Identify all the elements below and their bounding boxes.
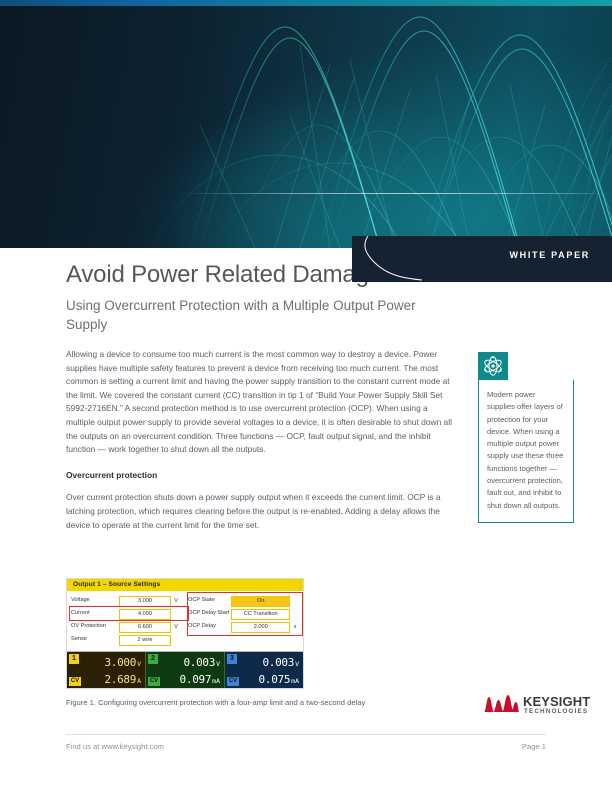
- channel-mode-badge: CV: [148, 677, 160, 686]
- unit-voltage: V: [171, 598, 181, 604]
- field-ov-protection[interactable]: 6.600: [119, 622, 171, 633]
- footer-url[interactable]: Find us at www.keysight.com: [66, 742, 164, 751]
- channel-mode-badge: CV: [69, 677, 81, 686]
- document-page: WHITE PAPER Avoid Power Related Damage U…: [0, 0, 612, 792]
- settings-cell-current: Current 4.000: [71, 609, 188, 620]
- label-ocp-delay-start: OCP Delay Start: [188, 611, 231, 617]
- output-readout-strip: 1 CV 3.000V 2.689A 2 CV 0.003V: [67, 651, 303, 688]
- current-unit: A: [137, 677, 141, 685]
- banner-top-accent-bar: [0, 0, 612, 6]
- voltage-unit: V: [295, 660, 299, 668]
- voltage-value: 3.000: [104, 656, 136, 669]
- field-ocp-state[interactable]: On: [231, 596, 290, 607]
- label-sense: Sense: [71, 637, 119, 643]
- voltage-value: 0.003: [262, 656, 294, 669]
- keysight-waveform-mark: [483, 695, 519, 713]
- footer-page-number: Page 1: [506, 742, 546, 751]
- label-ocp-state: OCP State: [188, 598, 231, 604]
- output-channel-1[interactable]: 1 CV 3.000V 2.689A: [67, 652, 146, 688]
- settings-row: Sense 2 wire: [71, 634, 300, 646]
- source-settings-grid: Voltage 3.000 V OCP State On Current 4.0…: [67, 591, 303, 651]
- current-value: 2.689: [104, 673, 136, 686]
- settings-row: OV Protection 6.600 V OCP Delay 2.000 s: [71, 621, 300, 633]
- settings-cell-ocp-delay: OCP Delay 2.000 s: [188, 622, 300, 633]
- current-value: 0.075: [259, 673, 291, 686]
- logo-name: KEYSIGHT: [523, 694, 590, 709]
- settings-cell-voltage: Voltage 3.000 V: [71, 596, 188, 607]
- settings-cell-ocp-delay-start: OCP Delay Start CC Transition: [188, 609, 300, 620]
- field-ocp-delay[interactable]: 2.000: [231, 622, 290, 633]
- channel-mode-badge: CV: [227, 677, 239, 686]
- atom-icon: [478, 352, 508, 380]
- sidebar-callout: Modern power supplies offer layers of pr…: [478, 352, 574, 523]
- channel-number: 1: [69, 654, 79, 664]
- page-subtitle: Using Overcurrent Protection with a Mult…: [66, 296, 426, 334]
- paragraph-overcurrent: Over current protection shuts down a pow…: [66, 491, 458, 532]
- field-ocp-delay-start[interactable]: CC Transition: [231, 609, 290, 620]
- current-value: 0.097: [180, 673, 212, 686]
- body-content: Allowing a device to consume too much cu…: [66, 348, 458, 544]
- banner-horizon-line: [180, 193, 612, 194]
- settings-cell-sense: Sense 2 wire: [71, 635, 188, 646]
- current-unit: mA: [212, 677, 220, 685]
- instrument-screenshot: Output 1 – Source Settings Voltage 3.000…: [66, 578, 304, 689]
- logo-tagline: TECHNOLOGIES: [524, 708, 588, 715]
- figure-block: Output 1 – Source Settings Voltage 3.000…: [66, 578, 304, 709]
- figure-caption: Figure 1. Configuring overcurrent protec…: [66, 698, 466, 709]
- field-sense[interactable]: 2 wire: [119, 635, 171, 646]
- panel-title: Output 1 – Source Settings: [67, 579, 303, 591]
- band-scurve-decoration: [352, 236, 462, 282]
- unit-ov-protection: V: [171, 624, 181, 630]
- field-current[interactable]: 4.000: [119, 609, 171, 620]
- settings-cell-ov-protection: OV Protection 6.600 V: [71, 622, 188, 633]
- channel-number: 2: [148, 654, 158, 664]
- white-paper-badge-band: WHITE PAPER: [352, 236, 612, 282]
- output-channel-3[interactable]: 3 CV 0.003V 0.075mA: [225, 652, 303, 688]
- settings-row: Voltage 3.000 V OCP State On: [71, 595, 300, 607]
- label-current: Current: [71, 611, 119, 617]
- voltage-unit: V: [137, 660, 141, 668]
- label-voltage: Voltage: [71, 598, 119, 604]
- header-banner: [0, 0, 612, 248]
- paragraph-intro: Allowing a device to consume too much cu…: [66, 348, 458, 457]
- callout-text: Modern power supplies offer layers of pr…: [487, 389, 565, 512]
- label-ov-protection: OV Protection: [71, 624, 119, 630]
- white-paper-label: WHITE PAPER: [509, 250, 590, 260]
- footer-divider: [66, 734, 546, 735]
- field-voltage[interactable]: 3.000: [119, 596, 171, 607]
- keysight-logo: KEYSIGHT TECHNOLOGIES: [483, 694, 601, 720]
- voltage-value: 0.003: [183, 656, 215, 669]
- callout-text-box: Modern power supplies offer layers of pr…: [478, 380, 574, 523]
- banner-wave-graphic: [0, 5, 612, 248]
- label-ocp-delay: OCP Delay: [188, 624, 231, 630]
- settings-cell-ocp-state: OCP State On: [188, 596, 300, 607]
- unit-ocp-delay: s: [290, 624, 300, 630]
- section-heading-overcurrent-protection: Overcurrent protection: [66, 469, 458, 482]
- output-channel-2[interactable]: 2 CV 0.003V 0.097mA: [146, 652, 225, 688]
- settings-row: Current 4.000 OCP Delay Start CC Transit…: [71, 608, 300, 620]
- voltage-unit: V: [216, 660, 220, 668]
- channel-number: 3: [227, 654, 237, 664]
- current-unit: mA: [291, 677, 299, 685]
